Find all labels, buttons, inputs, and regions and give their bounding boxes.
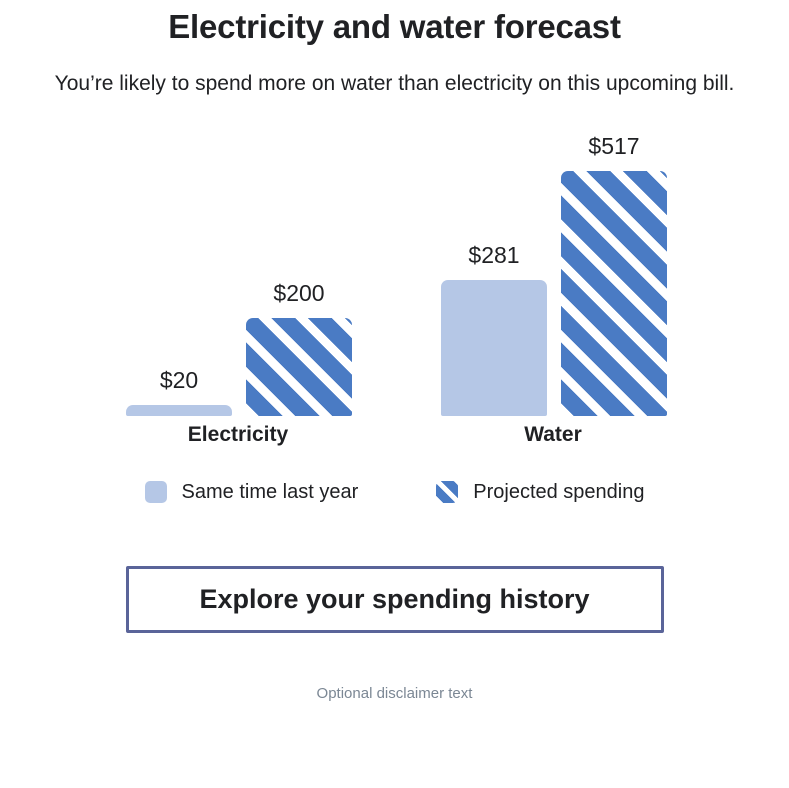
bar-electricity-projected[interactable]: [246, 318, 352, 416]
bar-value-electricity-projected: $200: [246, 279, 352, 307]
spending-bar-chart: $20 $200 $281 $517 Elec: [0, 126, 789, 466]
bar-group-water: $281 $517: [433, 126, 673, 416]
cta-container: Explore your spending history: [0, 566, 789, 633]
category-label-electricity: Electricity: [118, 422, 358, 448]
chart-legend: Same time last year Projected spending: [0, 480, 789, 504]
explore-spending-history-button[interactable]: Explore your spending history: [126, 566, 664, 633]
disclaimer-text: Optional disclaimer text: [0, 633, 789, 704]
solid-light-blue-swatch-icon: [145, 481, 167, 503]
bar-water-last-year[interactable]: [441, 280, 547, 416]
bar-value-water-projected: $517: [561, 132, 667, 160]
forecast-card: Electricity and water forecast You’re li…: [0, 0, 789, 788]
page-subtitle: You’re likely to spend more on water tha…: [0, 49, 789, 98]
bar-value-electricity-last-year: $20: [126, 366, 232, 394]
bar-water-projected[interactable]: [561, 171, 667, 416]
category-label-water: Water: [433, 422, 673, 448]
bar-group-electricity: $20 $200: [118, 126, 358, 416]
legend-item-last-year: Same time last year: [145, 480, 359, 504]
legend-label-last-year: Same time last year: [182, 480, 359, 504]
chart-plot-area: $20 $200 $281 $517: [0, 126, 789, 416]
legend-item-projected: Projected spending: [436, 480, 644, 504]
bar-value-water-last-year: $281: [441, 241, 547, 269]
bar-electricity-last-year[interactable]: [126, 405, 232, 416]
page-title: Electricity and water forecast: [0, 0, 789, 49]
striped-blue-swatch-icon: [436, 481, 458, 503]
legend-label-projected: Projected spending: [473, 480, 644, 504]
